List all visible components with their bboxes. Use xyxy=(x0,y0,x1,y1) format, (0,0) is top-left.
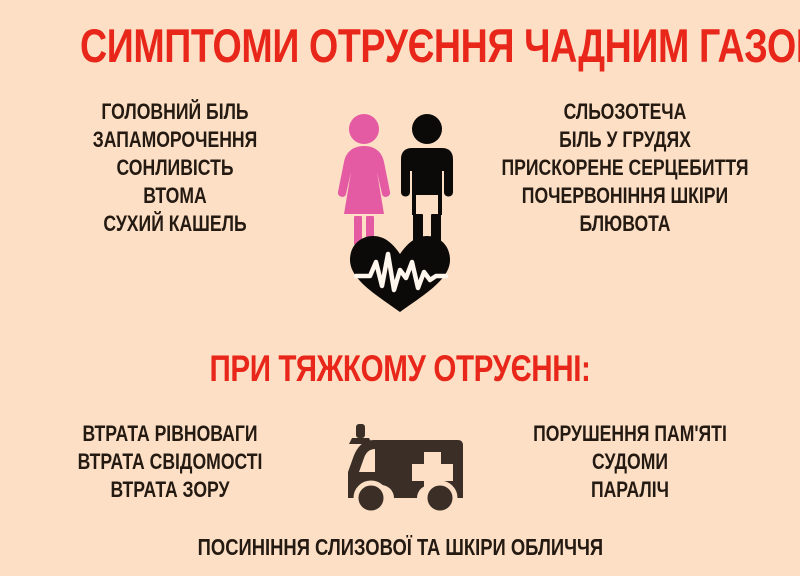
list-item: ПОРУШЕННЯ ПАМ'ЯТІ xyxy=(510,420,750,448)
poster-canvas: СИМПТОМИ ОТРУЄННЯ ЧАДНИМ ГАЗОМ: ГОЛОВНИЙ… xyxy=(0,0,800,576)
list-item: ГОЛОВНИЙ БІЛЬ xyxy=(51,98,299,126)
list-item: ПРИСКОРЕНЕ СЕРЦЕБИТТЯ xyxy=(501,154,749,182)
severe-symptom-list-right: ПОРУШЕННЯ ПАМ'ЯТІ СУДОМИ ПАРАЛІЧ xyxy=(480,420,780,504)
list-item: ВТОМА xyxy=(51,182,299,210)
list-item: СЛЬОЗОТЕЧА xyxy=(501,98,749,126)
list-item: ПОЧЕРВОНІННЯ ШКІРИ xyxy=(501,182,749,210)
list-item: СУХИЙ КАШЕЛЬ xyxy=(51,210,299,238)
list-item: ПАРАЛІЧ xyxy=(510,476,750,504)
female-person-icon xyxy=(338,114,390,245)
list-item: БЛЮВОТА xyxy=(501,210,749,238)
list-item: ВТРАТА ЗОРУ xyxy=(50,476,290,504)
list-item: СОНЛИВІСТЬ xyxy=(51,154,299,182)
heart-with-ecg-icon xyxy=(350,236,450,312)
people-and-heart-illustration xyxy=(338,112,462,312)
ambulance-icon xyxy=(348,424,463,513)
section-title-severe: ПРИ ТЯЖКОМУ ОТРУЄННІ: xyxy=(80,350,720,387)
list-item: ВТРАТА СВІДОМОСТІ xyxy=(50,448,290,476)
list-item: ПОСИНІННЯ СЛИЗОВОЇ ТА ШКІРИ ОБЛИЧЧЯ xyxy=(197,533,602,561)
page-title: СИМПТОМИ ОТРУЄННЯ ЧАДНИМ ГАЗОМ: xyxy=(80,22,720,69)
ambulance-illustration xyxy=(330,424,482,516)
symptom-list-left: ГОЛОВНИЙ БІЛЬ ЗАПАМОРОЧЕННЯ СОНЛИВІСТЬ В… xyxy=(20,98,330,238)
list-item: ВТРАТА РІВНОВАГИ xyxy=(50,420,290,448)
footer-symptom: ПОСИНІННЯ СЛИЗОВОЇ ТА ШКІРИ ОБЛИЧЧЯ xyxy=(0,533,800,561)
list-item: БІЛЬ У ГРУДЯХ xyxy=(501,126,749,154)
severe-symptom-list-left: ВТРАТА РІВНОВАГИ ВТРАТА СВІДОМОСТІ ВТРАТ… xyxy=(20,420,320,504)
list-item: СУДОМИ xyxy=(510,448,750,476)
symptom-list-right: СЛЬОЗОТЕЧА БІЛЬ У ГРУДЯХ ПРИСКОРЕНЕ СЕРЦ… xyxy=(470,98,780,238)
list-item: ЗАПАМОРОЧЕННЯ xyxy=(51,126,299,154)
male-person-icon xyxy=(401,114,453,245)
